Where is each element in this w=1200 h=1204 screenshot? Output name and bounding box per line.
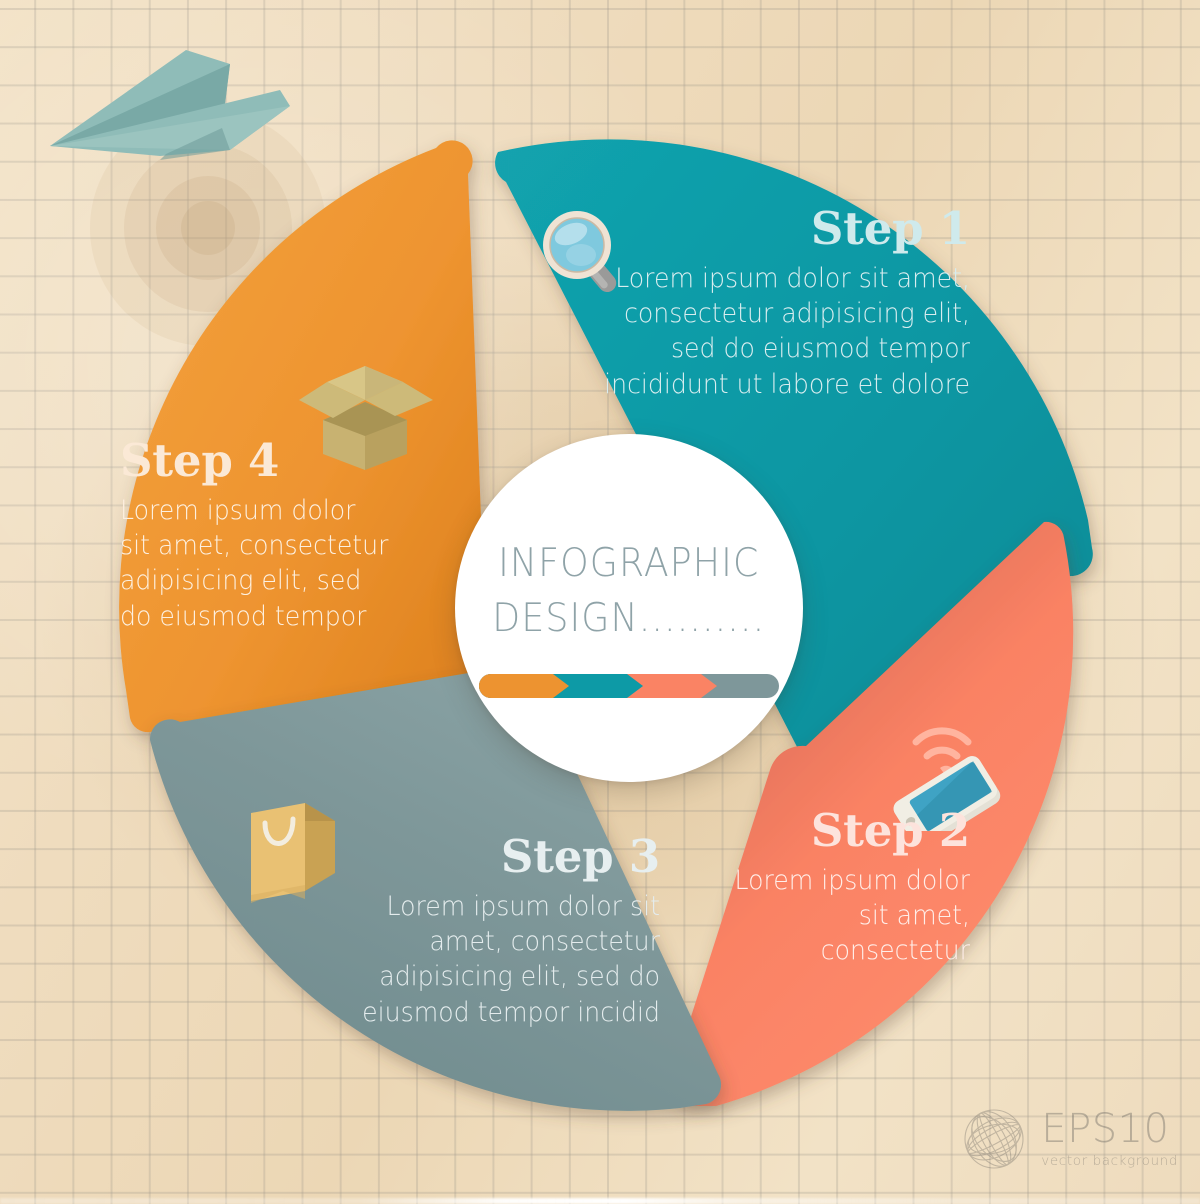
infographic-canvas: Step 1 Lorem ipsum dolor sit amet, conse…: [0, 0, 1200, 1204]
step-3-block[interactable]: Step 3 Lorem ipsum dolor sit amet, conse…: [330, 834, 660, 1030]
step-3-title: Step 3: [330, 834, 660, 879]
eps10-title: EPS10: [1041, 1109, 1178, 1149]
progress-chevron-bar[interactable]: [479, 674, 779, 698]
step-2-body: Lorem ipsum dolor sit amet, consectetur: [714, 863, 971, 969]
step-2-block[interactable]: Step 2 Lorem ipsum dolor sit amet, conse…: [700, 808, 970, 969]
step-4-body: Lorem ipsum dolor sit amet, consectetur …: [120, 493, 396, 634]
step-1-block[interactable]: Step 1 Lorem ipsum dolor sit amet, conse…: [560, 206, 970, 402]
center-title: INFOGRAPHIC DESIGN..........: [493, 536, 766, 647]
step-2-title: Step 2: [700, 808, 970, 853]
step-3-body: Lorem ipsum dolor sit amet, consectetur …: [347, 889, 661, 1030]
step-4-block[interactable]: Step 4 Lorem ipsum dolor sit amet, conse…: [120, 438, 410, 634]
center-disc[interactable]: INFOGRAPHIC DESIGN..........: [455, 434, 803, 782]
step-1-title: Step 1: [560, 206, 970, 251]
eps10-subtitle: vector background: [1041, 1153, 1178, 1169]
eps10-watermark: EPS10 vector background: [957, 1102, 1178, 1176]
step-4-title: Step 4: [120, 438, 410, 483]
bottom-edge-strip: [0, 1198, 1200, 1204]
progress-segment-1: [479, 674, 569, 698]
shopping-bag-icon: [243, 795, 343, 905]
step-1-body: Lorem ipsum dolor sit amet, consectetur …: [581, 261, 971, 402]
wireframe-globe-icon: [957, 1102, 1031, 1176]
